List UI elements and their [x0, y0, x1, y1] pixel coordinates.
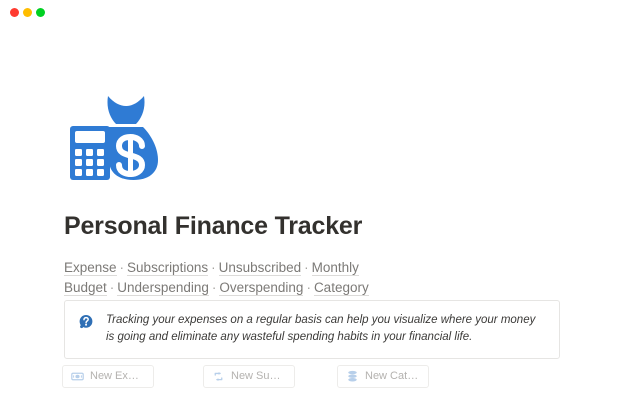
- layers-stack-icon: [346, 370, 359, 383]
- tag-expense[interactable]: Expense: [64, 260, 117, 276]
- tag-separator: ·: [303, 280, 314, 295]
- new-subscription-button-label: New Subs...: [231, 370, 286, 383]
- new-expense-button[interactable]: New Expe...: [62, 365, 154, 388]
- tag-overspending[interactable]: Overspending: [219, 280, 303, 296]
- tag-subscriptions[interactable]: Subscriptions: [127, 260, 208, 276]
- tag-category[interactable]: Category: [314, 280, 369, 296]
- callout-text: Tracking your expenses on a regular basi…: [106, 312, 543, 346]
- money-bag-calculator-icon[interactable]: [64, 88, 160, 184]
- tag-separator: ·: [301, 260, 312, 275]
- new-category-button-label: New Categ...: [365, 370, 420, 383]
- new-category-button[interactable]: New Categ...: [337, 365, 429, 388]
- tag-unsubscribed[interactable]: Unsubscribed: [219, 260, 302, 276]
- tag-separator: ·: [117, 260, 128, 275]
- tag-separator: ·: [209, 280, 220, 295]
- question-mark-badge-icon: [78, 314, 94, 330]
- recycle-arrows-icon: [212, 370, 225, 383]
- page-title: Personal Finance Tracker: [64, 211, 362, 241]
- new-expense-button-label: New Expe...: [90, 370, 145, 383]
- new-subscription-button[interactable]: New Subs...: [203, 365, 295, 388]
- banknote-icon: [71, 370, 84, 383]
- window-maximize-button[interactable]: [36, 8, 45, 17]
- info-callout: Tracking your expenses on a regular basi…: [64, 300, 560, 359]
- window-close-button[interactable]: [10, 8, 19, 17]
- window-titlebar: [0, 0, 640, 24]
- page-content: Personal Finance Tracker Expense·Subscri…: [0, 24, 640, 400]
- tag-separator: ·: [107, 280, 118, 295]
- window-minimize-button[interactable]: [23, 8, 32, 17]
- tag-underspending[interactable]: Underspending: [117, 280, 209, 296]
- tag-separator: ·: [208, 260, 219, 275]
- app-window: Personal Finance Tracker Expense·Subscri…: [0, 0, 640, 400]
- tag-list: Expense·Subscriptions·Unsubscribed·Month…: [64, 258, 564, 298]
- page-button-row: New Expe... New Subs...: [62, 365, 562, 389]
